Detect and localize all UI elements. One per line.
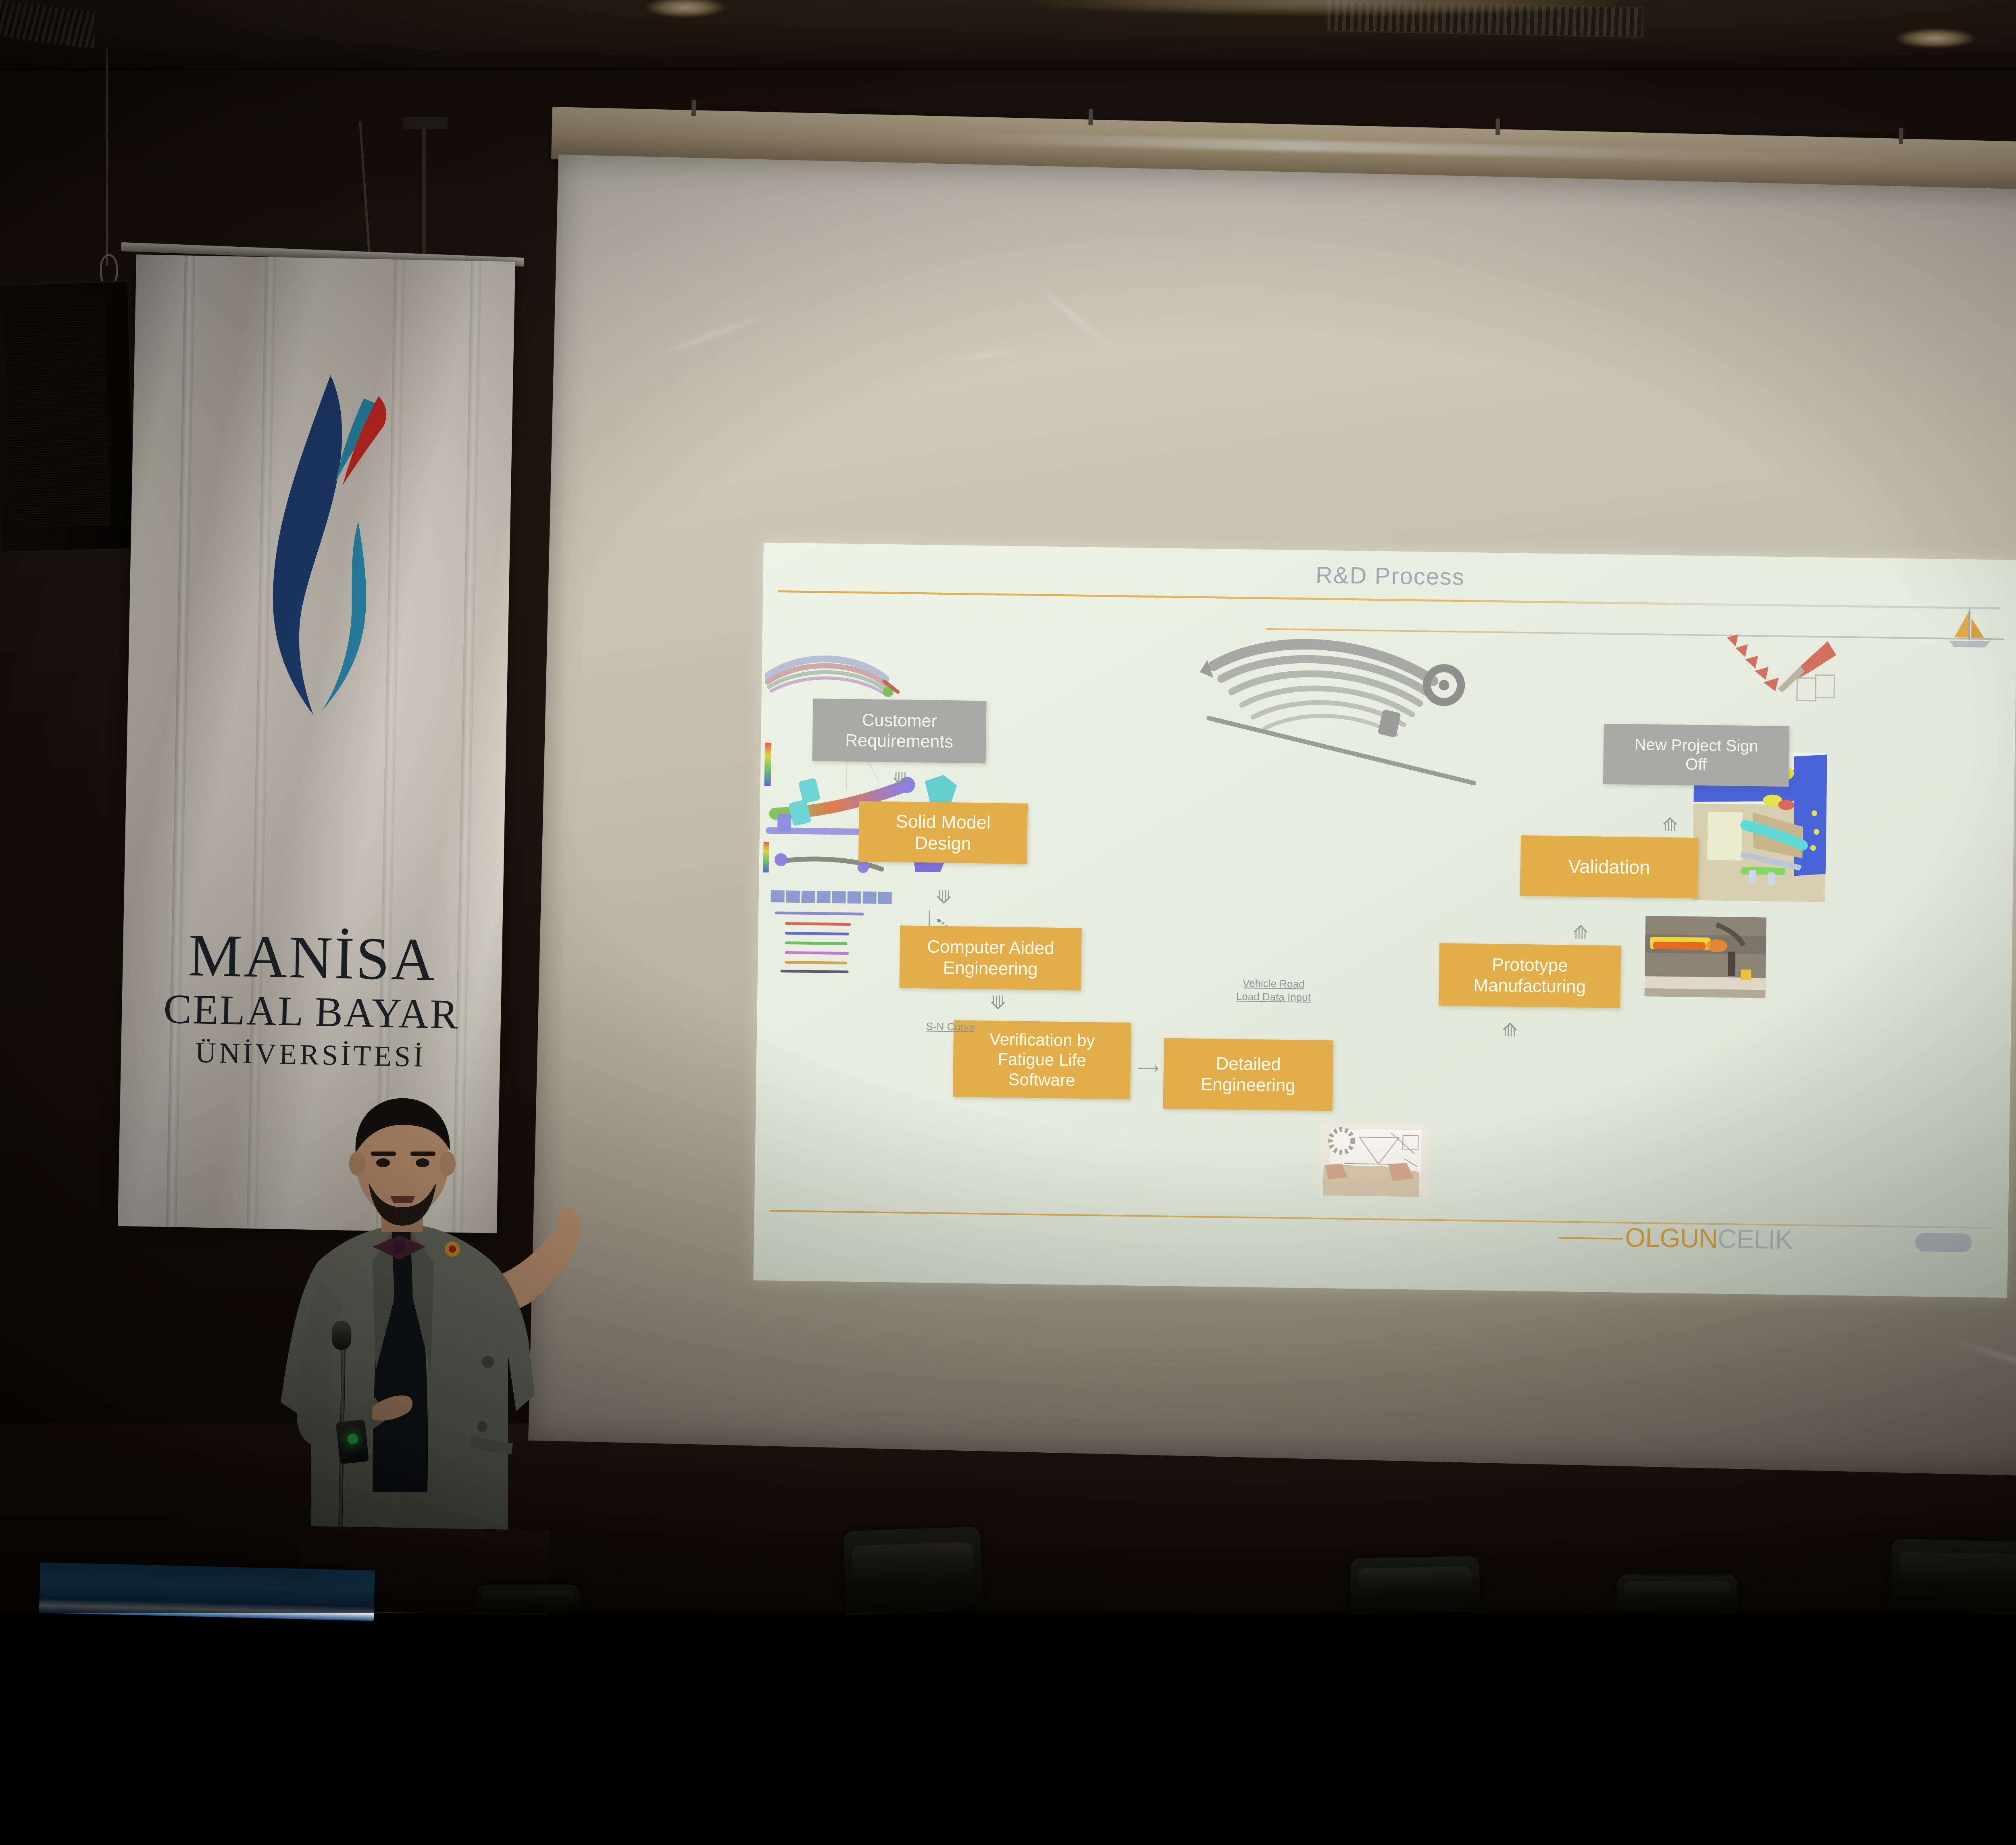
- projection-screen-surface: R&D Process: [528, 154, 2016, 1482]
- box-line: Design: [896, 832, 991, 854]
- process-box-computer-aided-engineering[interactable]: Computer Aided Engineering: [900, 925, 1082, 990]
- load-data-table-image: [768, 889, 906, 976]
- banner-line-celal-bayar: CELAL BAYAR: [121, 984, 501, 1040]
- box-line: Verification by: [989, 1029, 1095, 1050]
- box-line: Software: [989, 1069, 1094, 1090]
- box-line: Engineering: [1201, 1074, 1296, 1096]
- screen-crease: [941, 348, 1021, 364]
- audience-chair: [843, 1526, 983, 1615]
- prototype-manufacturing-photo: [1644, 916, 1766, 998]
- screen-hook-icon: [1495, 119, 1500, 135]
- box-line: Customer: [846, 710, 954, 731]
- flow-arrow-down-icon: ⟱: [936, 888, 952, 907]
- banner-line-universitesi: ÜNİVERSİTESİ: [121, 1032, 500, 1077]
- banner-fold: [452, 261, 481, 1233]
- speaker-grille: [4, 299, 111, 527]
- leaf-spring-illustration: [1195, 621, 1496, 795]
- screen-crease: [1029, 279, 1113, 349]
- flow-arrow-down-icon: ⟱: [893, 769, 908, 788]
- speaker-suspension-wire: [106, 48, 108, 266]
- sailboat-logo-icon: [1945, 608, 1994, 653]
- box-line: Engineering: [927, 957, 1054, 980]
- ceiling-light-icon: [1895, 28, 1976, 48]
- banner-text-block: MANİSA CELAL BAYAR ÜNİVERSİTESİ: [121, 924, 502, 1077]
- loudspeaker: [0, 281, 136, 554]
- screen-hook-icon: [1899, 128, 1904, 144]
- flow-arrow-up-icon: ⟰: [1662, 815, 1678, 834]
- box-line: Validation: [1568, 855, 1650, 879]
- process-box-new-project-sign-off[interactable]: New Project Sign Off: [1603, 724, 1789, 787]
- audience-chair: [1890, 1539, 2016, 1615]
- podium-blue-sign: [39, 1562, 375, 1621]
- projection-screen-assembly: R&D Process: [519, 107, 2016, 1548]
- approval-stamp-icon: [1721, 616, 1843, 707]
- process-box-customer-requirements[interactable]: Customer Requirements: [812, 698, 986, 763]
- box-line: New Project Sign: [1634, 735, 1758, 756]
- box-line: Computer Aided: [927, 936, 1054, 959]
- box-line: Manufacturing: [1473, 975, 1586, 997]
- process-box-detailed-engineering[interactable]: Detailed Engineering: [1163, 1038, 1333, 1111]
- slide-bottom-rule: [770, 1210, 1991, 1229]
- slide-title: R&D Process: [763, 554, 2016, 598]
- audience-chair: [476, 1585, 581, 1613]
- university-flame-logo-icon: [227, 357, 411, 901]
- caption-vehicle-road-load-data-input: Vehicle Road Load Data Input: [1217, 976, 1330, 1004]
- caption-sn-curve: S-N Curve: [910, 1020, 991, 1034]
- microphone-head-icon: [332, 1321, 351, 1350]
- flow-arrow-right-icon: ⟶: [1137, 1061, 1159, 1077]
- logo-celik-text: CELIK: [1717, 1224, 1793, 1255]
- box-line: Off: [1634, 754, 1758, 775]
- flow-arrow-down-icon: ⟱: [990, 993, 1006, 1012]
- screen-crease: [650, 308, 777, 360]
- box-line: Solid Model: [896, 810, 991, 833]
- box-line: Detailed: [1201, 1053, 1296, 1075]
- projected-slide: R&D Process: [753, 543, 2016, 1298]
- caption-line: Vehicle Road: [1217, 976, 1330, 991]
- logo-olgun-text: OLGUN: [1625, 1222, 1718, 1254]
- flow-arrow-up-icon: ⟰: [1502, 1020, 1518, 1039]
- screen-crease: [1944, 1336, 2016, 1387]
- box-line: Requirements: [845, 730, 953, 752]
- clicker-status-led-icon: [348, 1434, 358, 1444]
- logo-blob-icon: [1915, 1233, 1972, 1252]
- screen-bar-highlight: [955, 133, 1922, 166]
- conference-hall-room: R&D Process: [0, 0, 2016, 1613]
- caption-line: Load Data Input: [1217, 989, 1330, 1004]
- box-line: Prototype: [1474, 954, 1587, 977]
- projector-ceiling-bracket: [403, 117, 448, 129]
- footer-rule: [1558, 1237, 1623, 1239]
- technical-drawing-photo: [1319, 1123, 1429, 1197]
- banner-fold: [166, 256, 195, 1227]
- box-line: Fatigue Life: [989, 1049, 1095, 1070]
- process-box-prototype-manufacturing[interactable]: Prototype Manufacturing: [1439, 943, 1621, 1008]
- olgun-celik-logo: OLGUNCELIK: [1625, 1222, 1793, 1255]
- manisa-celal-bayar-university-banner: MANİSA CELAL BAYAR ÜNİVERSİTESİ: [118, 254, 515, 1233]
- ceiling-seam: [0, 68, 2016, 70]
- screen-hook-icon: [1088, 109, 1093, 125]
- process-box-solid-model-design[interactable]: Solid Model Design: [858, 801, 1028, 864]
- caption-line: S-N Curve: [910, 1020, 991, 1034]
- process-box-validation[interactable]: Validation: [1520, 835, 1698, 898]
- banner-line-manisa: MANİSA: [122, 924, 502, 991]
- screen-hook-icon: [691, 100, 696, 116]
- flow-arrow-up-icon: ⟰: [1572, 923, 1588, 942]
- audience-chair: [1350, 1556, 1480, 1614]
- ceiling: [0, 0, 2016, 71]
- audience-chair: [1617, 1574, 1738, 1613]
